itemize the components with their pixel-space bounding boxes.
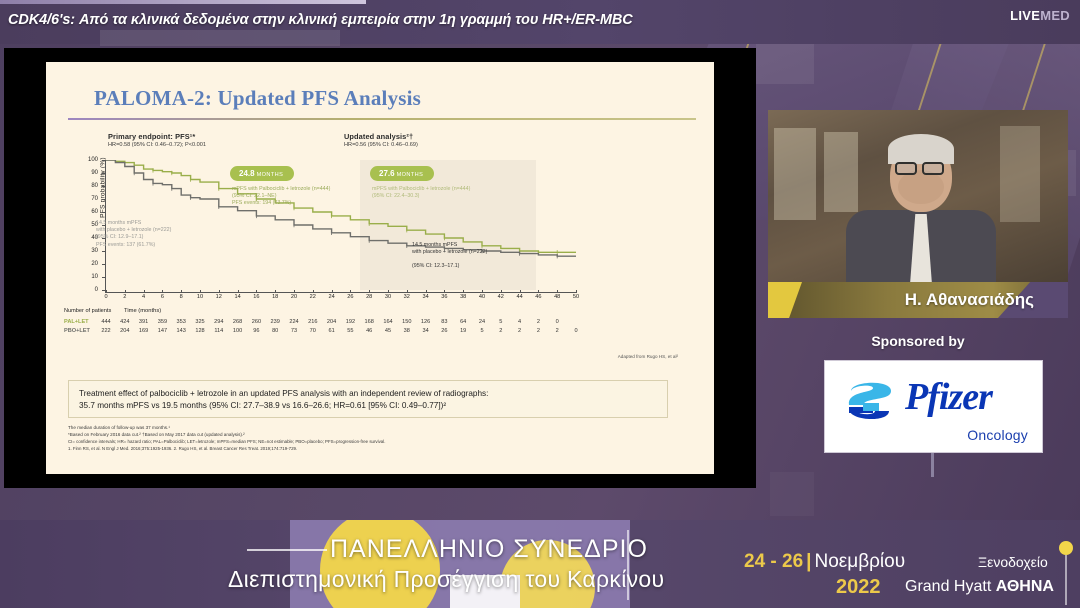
- risk-value: 5: [494, 319, 508, 325]
- x-tick-label: 32: [400, 294, 414, 300]
- risk-value: 19: [456, 328, 470, 334]
- y-tick-label: 30: [76, 248, 98, 254]
- x-axis-line: [105, 292, 577, 293]
- livemed-med-text: MED: [1040, 8, 1070, 23]
- y-tick-label: 60: [76, 209, 98, 215]
- conference-date-range: 24 - 26: [744, 551, 803, 572]
- risk-value: 204: [325, 319, 339, 325]
- risk-value: 64: [456, 319, 470, 325]
- x-tick-label: 36: [437, 294, 451, 300]
- x-tick-label: 12: [212, 294, 226, 300]
- conference-title-line1: ΠΑΝΕΛΛΗΝΙΟ ΣΥΝΕΔΡΙΟ: [330, 535, 648, 564]
- footer-vertical-rule: [627, 530, 629, 600]
- y-tick-label: 50: [76, 222, 98, 228]
- risk-value: 216: [306, 319, 320, 325]
- sponsored-by-label: Sponsored by: [768, 333, 1068, 349]
- pfizer-sign-pole: [931, 453, 934, 477]
- risk-value: 143: [174, 328, 188, 334]
- x-tick-label: 44: [513, 294, 527, 300]
- top-bar: CDK4/6's: Από τα κλινικά δεδομένα στην κ…: [0, 0, 1080, 44]
- footnote-1: The median duration of follow-up was 37 …: [68, 424, 688, 431]
- risk-value: 260: [249, 319, 263, 325]
- risk-value: 114: [212, 328, 226, 334]
- x-tick-label: 30: [381, 294, 395, 300]
- y-tick-label: 0: [76, 287, 98, 293]
- risk-value: 45: [381, 328, 395, 334]
- footer-art-circle-1: [320, 520, 440, 608]
- y-tick-label: 20: [76, 261, 98, 267]
- livemed-live-text: LIVE: [1010, 8, 1040, 23]
- risk-value: 96: [249, 328, 263, 334]
- pfizer-wordmark: Pfizer: [905, 375, 992, 419]
- x-tick-label: 22: [306, 294, 320, 300]
- x-tick-label: 38: [456, 294, 470, 300]
- footnote-2: *Based on February 2016 data cut.² †Base…: [68, 431, 688, 438]
- risk-value: 46: [362, 328, 376, 334]
- updated-analysis-stats: HR=0.56 (95% CI: 0.46–0.69): [344, 142, 418, 148]
- speaker-video[interactable]: [768, 110, 1068, 288]
- x-tick-label: 28: [362, 294, 376, 300]
- risk-row-label: PBO+LET: [64, 328, 90, 334]
- x-tick-label: 18: [268, 294, 282, 300]
- window-light-3: [1000, 126, 1040, 222]
- pill-right-unit: MONTHS: [397, 172, 424, 178]
- risk-value: 55: [343, 328, 357, 334]
- km-curves: [106, 160, 576, 290]
- x-tick-label: 40: [475, 294, 489, 300]
- km-chart: Primary endpoint: PFS¹* HR=0.58 (95% CI:…: [64, 132, 696, 382]
- footer-artwork: [290, 520, 630, 608]
- adapted-from-note: Adapted from Rugo HS, et al²: [618, 354, 678, 359]
- slide-title-divider: [68, 118, 696, 120]
- session-title: CDK4/6's: Από τα κλινικά δεδομένα στην κ…: [8, 12, 633, 28]
- top-accent-bar: [0, 0, 366, 4]
- km-curve-series-1: [106, 160, 576, 256]
- title-backdrop: [100, 30, 340, 46]
- callout-line-1: Treatment effect of palbociclib + letroz…: [79, 388, 657, 400]
- risk-value: 424: [118, 319, 132, 325]
- risk-value: 24: [475, 319, 489, 325]
- pfizer-helix-icon: [839, 375, 901, 437]
- callout-line-2: 35.7 months mPFS vs 19.5 months (95% CI:…: [79, 400, 657, 412]
- risk-value: 38: [400, 328, 414, 334]
- risk-value: 5: [475, 328, 489, 334]
- annotation-left-grey: 14.5 months mPFS with placebo + letrozol…: [96, 220, 171, 249]
- speaker-hair: [888, 134, 954, 164]
- risk-value: 126: [419, 319, 433, 325]
- risk-value: 168: [362, 319, 376, 325]
- window-light-2: [824, 132, 858, 212]
- pill-left-value: 24.8: [239, 169, 255, 178]
- venue-label: Ξενοδοχείο: [978, 554, 1048, 570]
- risk-value: 192: [343, 319, 357, 325]
- eyeglass-left: [895, 162, 917, 175]
- conference-year: 2022: [836, 576, 881, 599]
- km-curve-series-0: [106, 160, 576, 252]
- risk-value: 147: [155, 328, 169, 334]
- x-tick-label: 10: [193, 294, 207, 300]
- pill-27-6-months: 27.6MONTHS: [370, 166, 434, 181]
- risk-value: 2: [494, 328, 508, 334]
- venue-city: ΑΘΗΝΑ: [996, 578, 1054, 595]
- footer-accent-dot: [1059, 541, 1073, 555]
- risk-value: 444: [99, 319, 113, 325]
- updated-analysis-header: Updated analysis²† HR=0.56 (95% CI: 0.46…: [344, 132, 418, 148]
- conference-date-separator: |: [806, 551, 811, 572]
- footnote-4: 1. Finn RS, et al. N Engl J Med. 2016;37…: [68, 445, 688, 452]
- risk-value: 2: [531, 319, 545, 325]
- risk-value: 222: [99, 328, 113, 334]
- x-tick-label: 42: [494, 294, 508, 300]
- x-tick-label: 4: [137, 294, 151, 300]
- risk-value: 0: [550, 319, 564, 325]
- risk-value: 224: [287, 319, 301, 325]
- annotation-left-green: mPFS with Palbociclib + letrozole (n=444…: [232, 186, 330, 208]
- risk-value: 204: [118, 328, 132, 334]
- risk-value: 2: [550, 328, 564, 334]
- risk-value: 61: [325, 328, 339, 334]
- slide-title: PALOMA-2: Updated PFS Analysis: [94, 86, 421, 111]
- risk-value: 34: [419, 328, 433, 334]
- y-tick-label: 100: [76, 157, 98, 163]
- risk-value: 169: [137, 328, 151, 334]
- screen-root: CDK4/6's: Από τα κλινικά δεδομένα στην κ…: [0, 0, 1080, 608]
- x-tick-label: 50: [569, 294, 583, 300]
- primary-endpoint-header: Primary endpoint: PFS¹* HR=0.58 (95% CI:…: [108, 132, 206, 148]
- risk-value: 100: [231, 328, 245, 334]
- pill-left-unit: MONTHS: [257, 172, 284, 178]
- primary-endpoint-stats: HR=0.58 (95% CI: 0.46–0.72); P<0.001: [108, 142, 206, 148]
- annotation-right-line3: (95% CI: 12.3–17.1): [412, 263, 459, 270]
- y-tick-label: 40: [76, 235, 98, 241]
- x-tick-label: 48: [550, 294, 564, 300]
- risk-value: 70: [306, 328, 320, 334]
- risk-value: 128: [193, 328, 207, 334]
- primary-endpoint-title: Primary endpoint: PFS¹*: [108, 132, 206, 141]
- slide-footnotes: The median duration of follow-up was 37 …: [68, 424, 688, 452]
- annotation-right-line2: with placebo + letrozole (n=222): [412, 249, 487, 256]
- venue-name: Grand Hyatt: [905, 578, 991, 595]
- x-tick-label: 0: [99, 294, 113, 300]
- pill-right-value: 27.6: [379, 169, 395, 178]
- risk-value: 4: [513, 319, 527, 325]
- background-square-3: [770, 472, 814, 516]
- y-tick-label: 70: [76, 196, 98, 202]
- risk-value: 2: [531, 328, 545, 334]
- updated-analysis-title: Updated analysis²†: [344, 132, 418, 141]
- footer-title-rule: [247, 549, 327, 551]
- risk-value: 83: [437, 319, 451, 325]
- risk-row-label: PAL+LET: [64, 319, 89, 325]
- pfizer-division-label: Oncology: [967, 427, 1028, 443]
- footer-accent-line: [1065, 555, 1067, 605]
- pill-24-8-months: 24.8MONTHS: [230, 166, 294, 181]
- risk-value: 164: [381, 319, 395, 325]
- risk-value: 268: [231, 319, 245, 325]
- x-axis-label: Time (months): [124, 308, 161, 314]
- x-tick-label: 6: [155, 294, 169, 300]
- eyeglass-right: [922, 162, 944, 175]
- risk-value: 325: [193, 319, 207, 325]
- venue-name-row: Grand Hyatt ΑΘΗΝΑ: [905, 578, 1054, 596]
- speaker-name-banner: Η. Αθανασιάδης: [768, 282, 1068, 318]
- x-tick-label: 2: [118, 294, 132, 300]
- y-tick-label: 90: [76, 170, 98, 176]
- risk-value: 239: [268, 319, 282, 325]
- livemed-logo: LIVEMED: [1010, 8, 1070, 23]
- speaker-name: Η. Αθανασιάδης: [905, 290, 1034, 310]
- pfizer-logo-card[interactable]: Pfizer Oncology: [824, 360, 1043, 453]
- risk-table-title: Number of patients: [64, 308, 111, 314]
- risk-value: 353: [174, 319, 188, 325]
- y-tick-label: 80: [76, 183, 98, 189]
- annotation-right-green: mPFS with Palbociclib + letrozole (n=444…: [372, 186, 470, 200]
- window-light-1: [774, 128, 816, 220]
- x-tick-label: 24: [325, 294, 339, 300]
- conference-title-line2: Διεπιστημονική Προσέγγιση του Καρκίνου: [228, 566, 664, 593]
- x-tick-label: 20: [287, 294, 301, 300]
- risk-value: 391: [137, 319, 151, 325]
- risk-value: 0: [569, 328, 583, 334]
- slide-video-frame[interactable]: PALOMA-2: Updated PFS Analysis Primary e…: [4, 48, 756, 488]
- risk-value: 80: [268, 328, 282, 334]
- footnote-3: CI= confidence intervals; HR= hazard rat…: [68, 438, 688, 445]
- x-tick-label: 8: [174, 294, 188, 300]
- x-tick-label: 14: [231, 294, 245, 300]
- x-tick-label: 26: [343, 294, 357, 300]
- risk-value: 359: [155, 319, 169, 325]
- risk-value: 294: [212, 319, 226, 325]
- risk-value: 26: [437, 328, 451, 334]
- x-tick-label: 46: [531, 294, 545, 300]
- conference-dates: 24 - 26|Νοεμβρίου: [744, 551, 905, 573]
- y-tick-label: 10: [76, 274, 98, 280]
- km-plot-area: [106, 160, 576, 290]
- risk-value: 150: [400, 319, 414, 325]
- treatment-effect-callout: Treatment effect of palbociclib + letroz…: [68, 380, 668, 418]
- risk-value: 2: [513, 328, 527, 334]
- risk-value: 73: [287, 328, 301, 334]
- presentation-slide: PALOMA-2: Updated PFS Analysis Primary e…: [46, 62, 714, 474]
- x-tick-label: 34: [419, 294, 433, 300]
- x-tick-label: 16: [249, 294, 263, 300]
- conference-month: Νοεμβρίου: [814, 551, 905, 572]
- speaker-face-shadow: [898, 170, 944, 204]
